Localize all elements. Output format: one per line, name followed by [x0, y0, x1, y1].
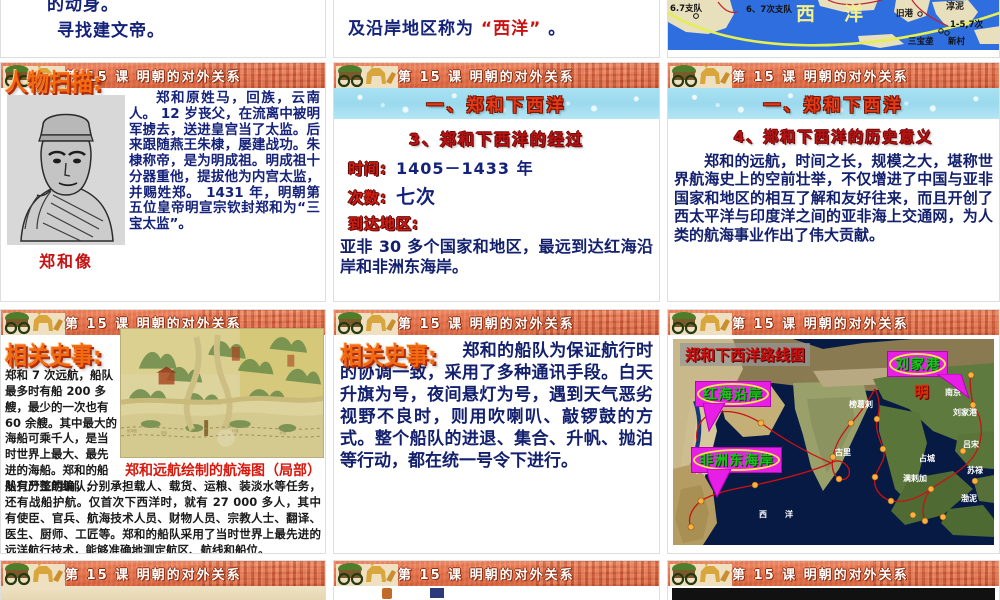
gap: [326, 309, 333, 554]
banner-title: 第 15 课 明朝的对外关系: [732, 63, 907, 88]
carriage-horses-icon: [3, 561, 65, 586]
svg-text:占城: 占城: [919, 453, 935, 463]
callout-feizhoudonghaian-label: 非洲东海岸: [699, 453, 774, 469]
top-slide-2-line: 及沿岸地区称为 “西洋” 。: [348, 14, 659, 39]
route-map-title: 郑和下西洋路线图: [680, 343, 810, 366]
slide-banner: 第 15 课 明朝的对外关系: [668, 561, 999, 586]
carriage-horses-icon: [3, 310, 65, 335]
gap: [660, 0, 667, 58]
section-title: 一、郑和下西洋: [334, 88, 659, 119]
slide-luxiantu[interactable]: 第 15 课 明朝的对外关系: [667, 309, 1000, 554]
yiyi-body: 郑和的远航，时间之长，规模之大，堪称世界航海史上的空前壮举，不仅增进了中国与亚非…: [674, 152, 993, 244]
carriage-horses-icon: [670, 63, 732, 88]
callout-honghaiyanan-label: 红海沿岸: [703, 387, 763, 403]
slide-lishi-yiyi[interactable]: 第 15 课 明朝的对外关系 一、郑和下西洋 4、郑和下西洋的历史意义 郑和的远…: [667, 62, 1000, 302]
gap: [660, 560, 667, 600]
svg-text:吕宋: 吕宋: [963, 439, 979, 449]
ancient-nautical-chart-drawing: 航海图宝船针路水道: [121, 329, 323, 458]
svg-text:针路: 针路: [232, 428, 239, 433]
top-slide-1-line2: 寻找建文帝。: [57, 16, 325, 41]
banner-title: 第 15 课 明朝的对外关系: [732, 310, 907, 335]
slide-banner: 第 15 课 明朝的对外关系: [1, 561, 325, 586]
decorative-shape: [382, 588, 392, 599]
svg-text:刘家港: 刘家港: [953, 407, 978, 417]
satellite-route-map[interactable]: 南京 刘家港 榜葛剌 古里 占城 满剌加 吕宋 苏禄 渤泥 木骨都束 西洋 郑和…: [673, 339, 994, 545]
slide-xiangguan-shishi-hanghaitu[interactable]: 第 15 课 明朝的对外关系 相关史事:: [0, 309, 326, 554]
jingguo-row-count: 次数: 七次: [348, 182, 659, 209]
svg-text:渤泥: 渤泥: [961, 493, 977, 503]
jingguo-row-time: 时间: 1405－1433 年: [348, 155, 659, 179]
slide-banner: 第 15 课 明朝的对外关系: [334, 561, 659, 586]
slide-xiangguan-shishi-tongxun[interactable]: 第 15 课 明朝的对外关系 相关史事: 郑和的船队为保证航行时的协调一致，采用…: [333, 309, 660, 554]
shishi-title: 相关史事:: [340, 336, 437, 371]
svg-text:旧港: 旧港: [896, 8, 914, 19]
gap: [333, 302, 660, 309]
count-label: 次数:: [348, 187, 387, 208]
top-slide-1-line1: 的动身。: [47, 0, 325, 15]
ancient-nautical-chart-image: 航海图宝船针路水道: [120, 328, 324, 458]
shishi-title: 相关史事:: [5, 336, 102, 371]
chart-caption: 郑和远航绘制的航海图（局部）: [120, 460, 326, 480]
shishi-full-text: 船只分工明确，分别承担载人、载货、运粮、装淡水等任务，还有战船护航。仅首次下西洋…: [5, 478, 321, 554]
callout-feizhoudonghaian-tail: [703, 469, 735, 499]
bottom-slide-1-content: [1, 586, 325, 600]
zhenghe-portrait-drawing: [7, 95, 125, 245]
slide-renwu-saomiao[interactable]: 第 15 课 明朝的对外关系 人物扫描:: [0, 62, 326, 302]
zhenghe-portrait-image: [7, 95, 125, 245]
bottom-slide-3[interactable]: 第 15 课 明朝的对外关系: [667, 560, 1000, 600]
top-slide-2[interactable]: 及沿岸地区称为 “西洋” 。: [333, 0, 660, 58]
time-value: 1405－1433 年: [396, 155, 534, 179]
carriage-horses-icon: [336, 63, 398, 88]
top-slide-3-map[interactable]: 6.7支队 6、7次支队 西 洋 旧港 淳泥 1-5,7次 三宝垄 新村: [667, 0, 1000, 58]
banner-title: 第 15 课 明朝的对外关系: [732, 561, 907, 586]
svg-text:6.7支队: 6.7支队: [670, 3, 703, 14]
count-value: 七次: [396, 182, 436, 209]
decorative-shape: [430, 588, 444, 598]
section-title: 一、郑和下西洋: [668, 88, 999, 119]
renwu-body-paragraph: 郑和原姓马，回族，云南人。 12 岁丧父，在流离中被明军掳去，送进皇宫当了太监。…: [129, 91, 320, 233]
region-label: 到达地区:: [348, 215, 419, 233]
slide-banner: 第 15 课 明朝的对外关系: [334, 310, 659, 335]
banner-title: 第 15 课 明朝的对外关系: [398, 561, 567, 586]
svg-text:水道: 水道: [279, 430, 286, 435]
gap: [667, 302, 1000, 309]
renwu-body-text: 郑和原姓马，回族，云南人。 12 岁丧父，在流离中被明军掳去，送进皇宫当了太监。…: [129, 91, 320, 233]
section-banner: 一、郑和下西洋: [334, 88, 659, 119]
gap: [660, 302, 667, 309]
svg-text:航海图: 航海图: [127, 428, 138, 433]
svg-text:苏禄: 苏禄: [967, 465, 984, 475]
slide-banner: 第 15 课 明朝的对外关系: [668, 310, 999, 335]
section-banner: 一、郑和下西洋: [668, 88, 999, 119]
svg-text:1-5,7次: 1-5,7次: [950, 19, 983, 30]
bottom-slide-2-content: [334, 586, 659, 600]
portrait-caption: 郑和像: [7, 248, 125, 272]
callout-liujiagang-tail: [937, 374, 971, 400]
svg-text:淳泥: 淳泥: [946, 0, 964, 12]
slide-banner: 第 15 课 明朝的对外关系: [668, 63, 999, 88]
svg-text:榜葛剌: 榜葛剌: [849, 399, 873, 409]
bottom-slide-2[interactable]: 第 15 课 明朝的对外关系: [333, 560, 660, 600]
top-slide-2-text: 及沿岸地区称为: [348, 19, 474, 39]
gap: [326, 0, 333, 58]
svg-text:新村: 新村: [948, 36, 966, 47]
top-slide-1[interactable]: 的动身。 寻找建文帝。: [0, 0, 326, 58]
yiyi-heading: 4、郑和下西洋的历史意义: [668, 126, 999, 147]
bottom-slide-1[interactable]: 第 15 课 明朝的对外关系: [0, 560, 326, 600]
banner-title: 第 15 课 明朝的对外关系: [65, 561, 233, 586]
gap: [660, 62, 667, 302]
slide-banner: 第 15 课 明朝的对外关系: [334, 63, 659, 88]
gap: [326, 560, 333, 600]
gap: [0, 302, 326, 309]
top-slide-2-tail: 。: [548, 19, 566, 39]
svg-text:西: 西: [759, 510, 767, 519]
time-label: 时间:: [348, 158, 387, 179]
gap: [660, 309, 667, 554]
banner-title: 第 15 课 明朝的对外关系: [398, 310, 567, 335]
slide-thumbnail-grid: 的动身。 寻找建文帝。 及沿岸地区称为 “西洋” 。 6.: [0, 0, 1000, 600]
top-slide-2-quoted: “西洋”: [481, 19, 541, 39]
svg-text:西: 西: [796, 3, 815, 25]
carriage-horses-icon: [336, 561, 398, 586]
svg-text:古里: 古里: [835, 447, 851, 457]
renwu-saomiao-title: 人物扫描:: [5, 64, 102, 99]
bottom-slide-3-content: [672, 588, 995, 600]
svg-text:洋: 洋: [785, 509, 793, 519]
gap: [326, 302, 333, 309]
callout-liujiagang-label: 刘家港: [895, 357, 940, 373]
jingguo-heading: 3、郑和下西洋的经过: [334, 126, 659, 150]
shishi-left-text: 郑和 7 次远航，船队最多时有船 200 多艘，最少的一次也有 60 余艘。其中…: [5, 368, 117, 495]
svg-text:满剌加: 满剌加: [903, 473, 927, 483]
ming-dynasty-label: 明: [914, 381, 929, 402]
gap: [326, 62, 333, 302]
carriage-horses-icon: [670, 310, 732, 335]
region-value: 亚非 30 多个国家和地区，最远到达红海沿岸和非洲东海岸。: [340, 237, 653, 277]
svg-text:三宝垄: 三宝垄: [908, 36, 934, 47]
svg-text:6、7次支队: 6、7次支队: [746, 4, 792, 15]
carriage-horses-icon: [336, 310, 398, 335]
banner-title: 第 15 课 明朝的对外关系: [398, 63, 567, 88]
callout-honghaiyanan-tail: [697, 403, 727, 433]
slide-jingguo[interactable]: 第 15 课 明朝的对外关系 一、郑和下西洋 3、郑和下西洋的经过 时间: 14…: [333, 62, 660, 302]
svg-text:宝船: 宝船: [161, 430, 168, 435]
partial-route-map-graphic: 6.7支队 6、7次支队 西 洋 旧港 淳泥 1-5,7次 三宝垄 新村: [668, 0, 1000, 58]
carriage-horses-icon: [670, 561, 732, 586]
svg-text:洋: 洋: [844, 2, 863, 25]
